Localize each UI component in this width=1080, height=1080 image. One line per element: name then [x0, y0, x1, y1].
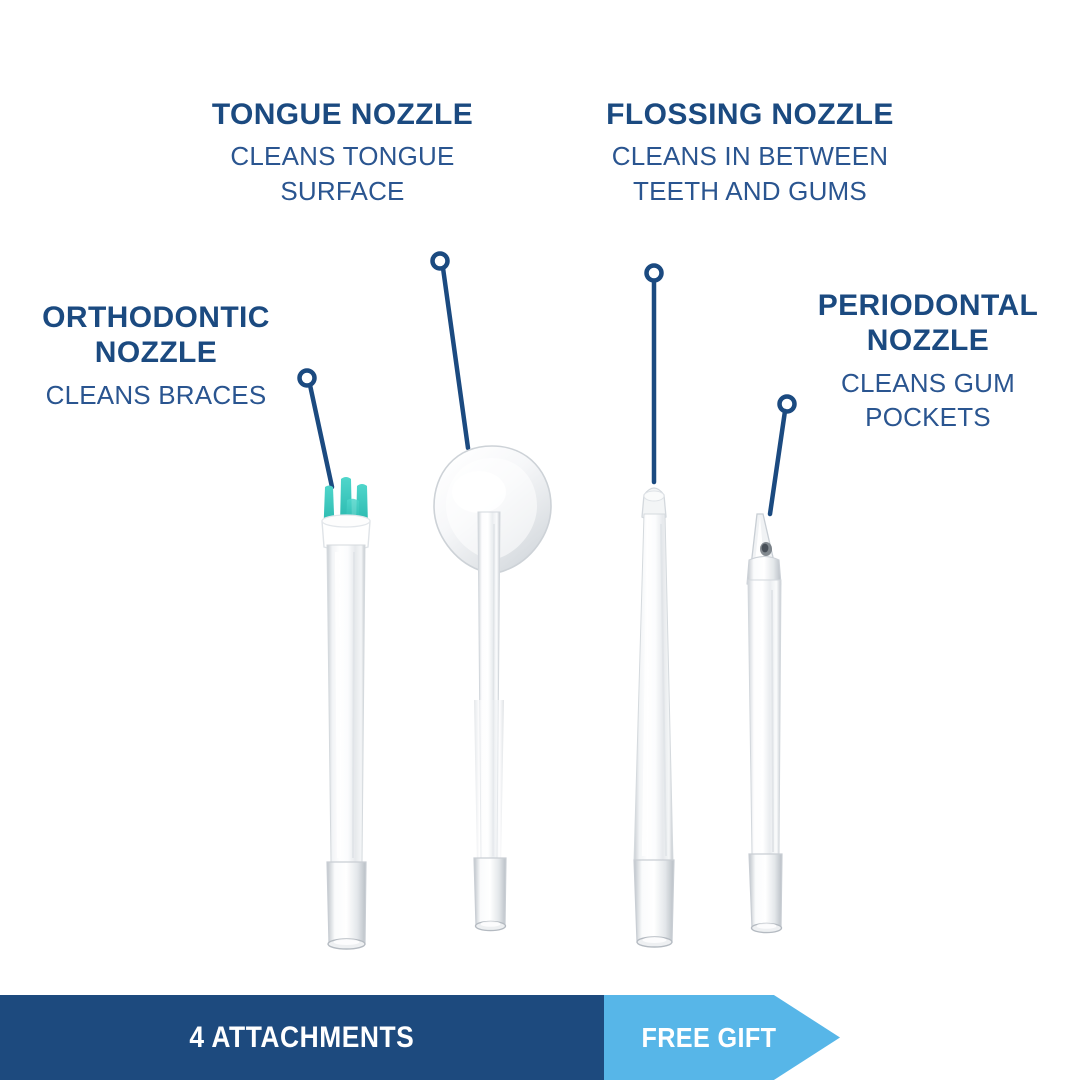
callout-orthodontic-subtitle: CLEANS BRACES — [6, 378, 306, 412]
callout-tongue-title: TONGUE NOZZLE — [170, 97, 515, 132]
attachments-banner-segment: 4 ATTACHMENTS — [0, 995, 604, 1080]
infographic-canvas: ORTHODONTIC NOZZLE CLEANS BRACES TONGUE … — [0, 0, 1080, 1080]
callout-flossing-subtitle: CLEANS IN BETWEEN TEETH AND GUMS — [560, 139, 940, 208]
callout-periodontal-subtitle: CLEANS GUM POCKETS — [778, 366, 1078, 435]
free-gift-label: FREE GIFT — [641, 1022, 776, 1054]
callout-orthodontic-title: ORTHODONTIC NOZZLE — [6, 300, 306, 371]
leader-line-tongue — [433, 254, 469, 449]
leader-lines — [300, 254, 795, 515]
product-periodontal-nozzle — [747, 514, 782, 933]
callout-tongue: TONGUE NOZZLE CLEANS TONGUE SURFACE — [170, 97, 515, 208]
callout-flossing: FLOSSING NOZZLE CLEANS IN BETWEEN TEETH … — [560, 97, 940, 208]
callout-periodontal: PERIODONTAL NOZZLE CLEANS GUM POCKETS — [778, 288, 1078, 434]
callout-tongue-subtitle: CLEANS TONGUE SURFACE — [170, 139, 515, 208]
product-flossing-nozzle — [634, 488, 674, 947]
attachments-count-label: 4 ATTACHMENTS — [190, 1021, 415, 1055]
leader-line-flossing — [647, 266, 662, 483]
product-tongue-nozzle — [434, 446, 551, 931]
product-orthodontic-nozzle — [322, 477, 370, 949]
bottom-banner: 4 ATTACHMENTS FREE GIFT — [0, 995, 1080, 1080]
callout-periodontal-title: PERIODONTAL NOZZLE — [778, 288, 1078, 359]
callout-flossing-title: FLOSSING NOZZLE — [560, 97, 940, 132]
callout-orthodontic: ORTHODONTIC NOZZLE CLEANS BRACES — [6, 300, 306, 412]
free-gift-arrow-badge: FREE GIFT — [604, 995, 840, 1080]
